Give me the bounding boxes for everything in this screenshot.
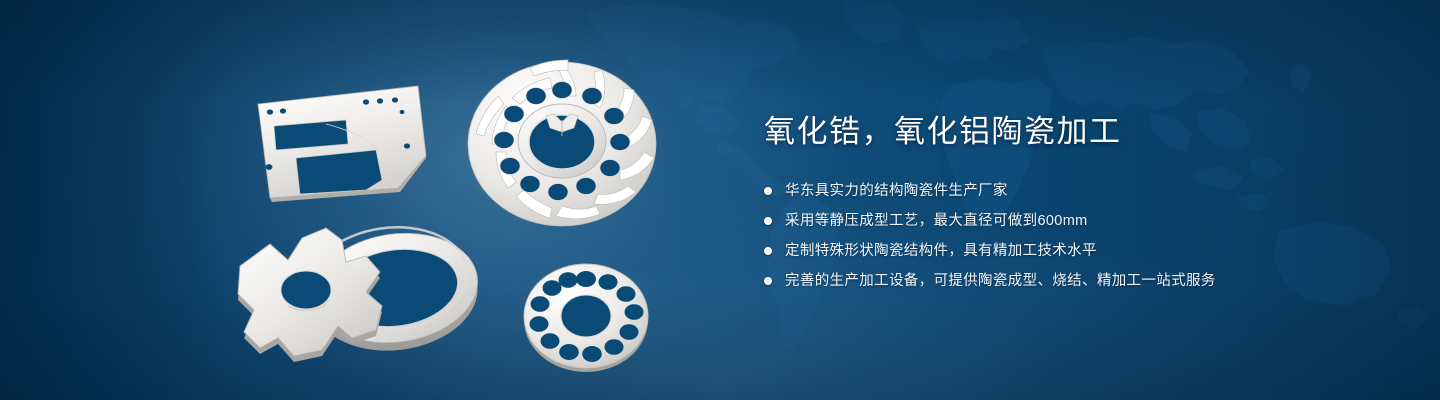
bullet-dot-icon: [764, 247, 772, 255]
list-item-label: 完善的生产加工设备，可提供陶瓷成型、烧结、精加工一站式服务: [785, 270, 1216, 292]
bullet-dot-icon: [764, 217, 772, 225]
ceramic-plate-with-cutouts: [258, 86, 426, 202]
feature-list: 华东具实力的结构陶瓷件生产厂家 采用等静压成型工艺，最大直径可做到600mm 定…: [764, 180, 1384, 292]
ceramic-products-photo: [230, 38, 710, 378]
list-item: 完善的生产加工设备，可提供陶瓷成型、烧结、精加工一站式服务: [764, 270, 1384, 292]
promo-banner: 氧化锆，氧化铝陶瓷加工 华东具实力的结构陶瓷件生产厂家 采用等静压成型工艺，最大…: [0, 0, 1440, 400]
list-item: 定制特殊形状陶瓷结构件，具有精加工技术水平: [764, 240, 1384, 262]
list-item-label: 定制特殊形状陶瓷结构件，具有精加工技术水平: [785, 240, 1097, 262]
list-item-label: 采用等静压成型工艺，最大直径可做到600mm: [785, 210, 1088, 232]
list-item: 采用等静压成型工艺，最大直径可做到600mm: [764, 210, 1384, 232]
bullet-dot-icon: [764, 277, 772, 285]
banner-copy: 氧化锆，氧化铝陶瓷加工 华东具实力的结构陶瓷件生产厂家 采用等静压成型工艺，最大…: [764, 112, 1384, 300]
ceramic-perforated-disc: [524, 264, 648, 372]
list-item-label: 华东具实力的结构陶瓷件生产厂家: [785, 180, 1008, 202]
page-title: 氧化锆，氧化铝陶瓷加工: [764, 112, 1384, 152]
list-item: 华东具实力的结构陶瓷件生产厂家: [764, 180, 1384, 202]
bullet-dot-icon: [764, 187, 772, 195]
ceramic-impeller-rotor: [468, 60, 656, 226]
